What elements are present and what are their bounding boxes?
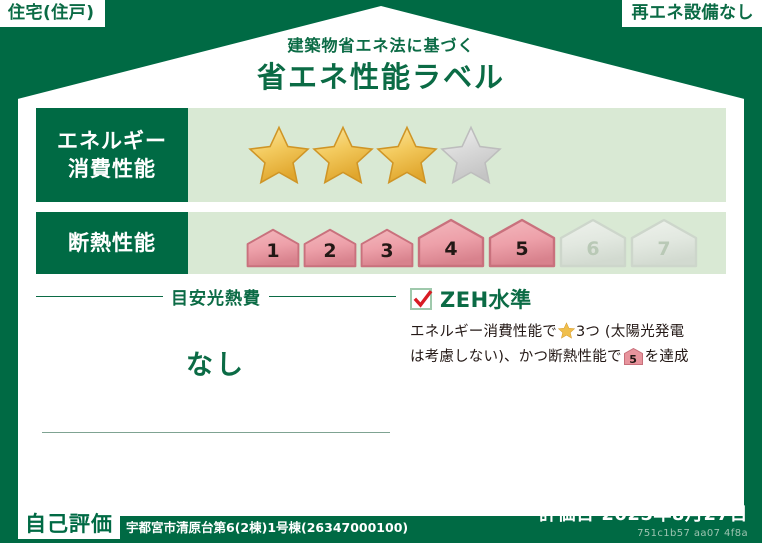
energy-label-line1: エネルギー (57, 127, 167, 155)
tag-building-type-label: 住宅(住戸) (8, 0, 95, 27)
tag-building-type: 住宅(住戸) (0, 0, 105, 27)
label-footer: 自己評価 宇都宮市清原台第6(2棟)1号棟(26347000100) 評価日 2… (0, 497, 762, 543)
house-level-number: 5 (488, 238, 556, 260)
house-level-1: 1 (246, 228, 300, 268)
tag-renewable-energy-label: 再エネ設備なし (632, 0, 755, 27)
utility-cost-heading-label: 目安光熱費 (163, 284, 269, 309)
house-level-5: 5 (488, 218, 556, 268)
heading-rule-left (36, 296, 163, 297)
mini-star-icon (558, 322, 575, 346)
star-filled-icon (376, 125, 438, 185)
house-level-number: 4 (417, 238, 485, 260)
mini-house-icon: 5 (624, 348, 643, 372)
row-energy-performance: エネルギー 消費性能 (36, 108, 726, 202)
star-filled-icon (248, 125, 310, 185)
zeh-title: ZEH水準 (440, 284, 532, 314)
house-level-4: 4 (417, 218, 485, 268)
zeh-checkbox[interactable] (410, 288, 432, 310)
zeh-description: エネルギー消費性能で3つ (太陽光発電 は考慮しない)、かつ断熱性能で5を達成 (410, 321, 726, 372)
utility-cost-value: なし (36, 309, 396, 388)
check-icon (413, 290, 433, 310)
insulation-performance-label-block: 断熱性能 (36, 212, 188, 274)
zeh-desc-part2: 3つ (太陽光発電 (576, 324, 684, 340)
energy-label-line2: 消費性能 (68, 155, 156, 183)
zeh-desc-part3: は考慮しない)、かつ断熱性能で (410, 349, 622, 365)
utility-cost-section: 目安光熱費 なし (36, 284, 396, 433)
house-level-6: 6 (559, 218, 627, 268)
mini-house-number: 5 (624, 349, 643, 371)
house-level-3: 3 (360, 228, 414, 268)
house-level-number: 6 (559, 238, 627, 260)
footer-right: 評価日 2025年8月27日 751c1b57 aa07 4f8a (539, 504, 748, 540)
row-insulation-performance: 断熱性能 1234567 (36, 212, 726, 274)
footer-left: 自己評価 宇都宮市清原台第6(2棟)1号棟(26347000100) (18, 510, 408, 539)
house-level-number: 3 (360, 240, 414, 262)
zeh-desc-part1: エネルギー消費性能で (410, 324, 557, 340)
label-content: エネルギー 消費性能 断熱性能 1234567 目安光熱費 なし (36, 108, 726, 433)
heading-rule-right (269, 296, 396, 297)
zeh-desc-part4: を達成 (645, 349, 689, 365)
star-empty-icon (440, 125, 502, 185)
star-filled-icon (312, 125, 374, 185)
house-level-number: 7 (630, 238, 698, 260)
lower-panel: 目安光熱費 なし ZEH水準 エネルギー消費性能で3つ (太陽光発電 は考慮しな… (36, 284, 726, 433)
document-hash: 751c1b57 aa07 4f8a (539, 527, 748, 540)
house-level-number: 2 (303, 240, 357, 262)
insulation-performance-rating: 1234567 (188, 212, 726, 274)
zeh-section: ZEH水準 エネルギー消費性能で3つ (太陽光発電 は考慮しない)、かつ断熱性能… (396, 284, 726, 433)
tag-renewable-energy: 再エネ設備なし (622, 0, 762, 27)
zeh-heading: ZEH水準 (410, 284, 726, 314)
energy-performance-label: { "tags": { "left": "住宅(住戸)", "right": "… (0, 0, 762, 543)
star-rating (248, 125, 502, 185)
utility-cost-underline (42, 432, 390, 433)
property-address: 宇都宮市清原台第6(2棟)1号棟(26347000100) (126, 517, 408, 539)
house-level-7: 7 (630, 218, 698, 268)
house-level-number: 1 (246, 240, 300, 262)
insulation-label: 断熱性能 (68, 229, 156, 257)
house-level-scale: 1234567 (246, 218, 698, 268)
energy-performance-label-block: エネルギー 消費性能 (36, 108, 188, 202)
evaluation-date: 評価日 2025年8月27日 (539, 504, 748, 526)
self-evaluation-badge: 自己評価 (18, 510, 120, 539)
energy-performance-rating (188, 108, 726, 202)
utility-cost-heading: 目安光熱費 (36, 284, 396, 309)
house-level-2: 2 (303, 228, 357, 268)
